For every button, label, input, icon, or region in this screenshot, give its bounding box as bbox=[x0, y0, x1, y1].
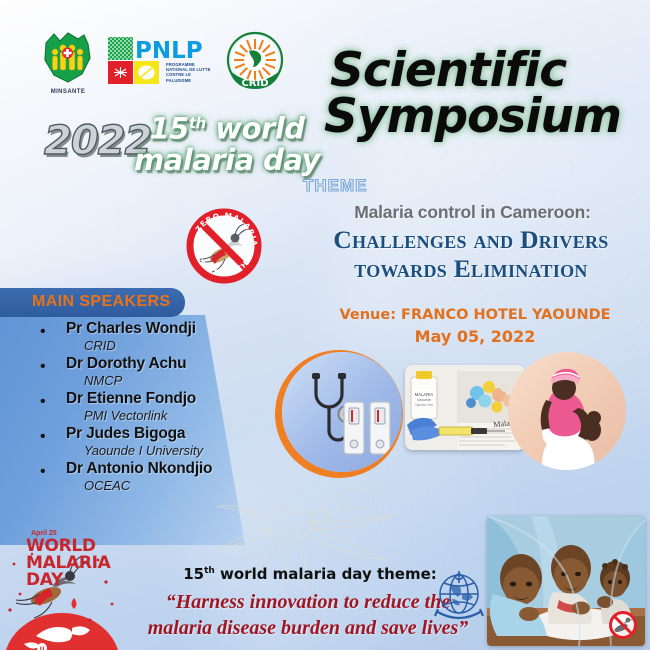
speaker-affiliation: CRID bbox=[84, 338, 252, 353]
bullet-icon: • bbox=[40, 393, 46, 411]
bullet-icon: • bbox=[40, 323, 46, 341]
emblem-line-3: DAY bbox=[26, 572, 112, 589]
theme-subject: Malaria control in Cameroon: bbox=[300, 202, 645, 223]
zero-malaria-badge-icon: ZERO MALARIA STARTS WITH ME bbox=[181, 203, 267, 289]
who-logo-icon bbox=[428, 565, 490, 627]
theme-headline-line1: Challenges and Drivers bbox=[333, 225, 608, 254]
wmd-world: world bbox=[206, 112, 305, 146]
svg-text:Injection 5ml: Injection 5ml bbox=[415, 403, 433, 407]
quote-line-1: “Harness innovation to reduce the bbox=[166, 591, 450, 613]
page-title: Scientific Symposium bbox=[330, 48, 630, 140]
svg-text:Vaccine: Vaccine bbox=[417, 397, 432, 402]
bottom-theme-ordinal: th bbox=[204, 566, 215, 576]
no-mosquito-icon bbox=[606, 608, 640, 642]
children-under-net-image bbox=[487, 516, 645, 646]
theme-label: THEME bbox=[303, 176, 368, 196]
speakers-header: MAIN SPEAKERS bbox=[0, 288, 185, 317]
world-malaria-day-emblem: U April 25 bbox=[2, 524, 122, 650]
wmd-line2: malaria day bbox=[134, 143, 320, 177]
speaker-name: Pr Charles Wondji bbox=[66, 320, 252, 338]
poster-canvas: MINSANTE P bbox=[0, 0, 650, 650]
minsante-caption: MINSANTE bbox=[38, 89, 98, 95]
theme-headline: Challenges and Drivers towards Eliminati… bbox=[292, 225, 650, 283]
bullet-icon: • bbox=[40, 358, 46, 376]
diagnostics-image bbox=[282, 352, 402, 472]
venue-block: Venue: FRANCO HOTEL YAOUNDE May 05, 2022 bbox=[300, 305, 650, 347]
malaria-vaccine-image: Malaria MALARIA Vaccine Injection 5ml bbox=[405, 365, 525, 450]
svg-text:U: U bbox=[40, 646, 45, 650]
speaker-name: Dr Dorothy Achu bbox=[66, 355, 252, 373]
speakers-header-label: MAIN SPEAKERS bbox=[32, 293, 171, 311]
list-item: • Dr Etienne Fondjo PMI Vectorlink bbox=[22, 390, 252, 423]
bullet-icon: • bbox=[40, 463, 46, 481]
speaker-name: Pr Judes Bigoga bbox=[66, 425, 252, 443]
speaker-affiliation: NMCP bbox=[84, 373, 252, 388]
pregnant-woman-image bbox=[508, 352, 626, 470]
bottom-theme-rest: world malaria day theme: bbox=[215, 565, 437, 583]
event-date: May 05, 2022 bbox=[300, 326, 650, 347]
emblem-title: WORLD MALARIA DAY bbox=[26, 538, 112, 589]
venue-line: Venue: FRANCO HOTEL YAOUNDE bbox=[300, 305, 650, 326]
list-item: • Dr Dorothy Achu NMCP bbox=[22, 355, 252, 388]
speaker-name: Dr Etienne Fondjo bbox=[66, 390, 252, 408]
theme-headline-line2: towards Elimination bbox=[354, 254, 587, 283]
svg-text:CRID: CRID bbox=[241, 78, 268, 89]
minsante-logo: MINSANTE bbox=[38, 30, 98, 94]
bottom-theme-number: 15 bbox=[183, 565, 204, 583]
list-item: • Pr Charles Wondji CRID bbox=[22, 320, 252, 353]
speaker-affiliation: PMI Vectorlink bbox=[84, 408, 252, 423]
bullet-icon: • bbox=[40, 428, 46, 446]
quote-line-2: malaria disease burden and save lives” bbox=[148, 617, 469, 639]
pnlp-subtitle: PROGRAMME NATIONAL DE LUTTE CONTRE LE PA… bbox=[166, 62, 214, 83]
logo-row: MINSANTE P bbox=[38, 30, 288, 96]
title-line-2: Symposium bbox=[324, 94, 630, 140]
wmd-number: 15 bbox=[149, 112, 188, 146]
pnlp-logo: PNLP PROGRAMME NATIONAL DE LUTTE CONTRE … bbox=[108, 36, 213, 86]
crid-logo: CRID bbox=[223, 30, 287, 94]
list-item: • Pr Judes Bigoga Yaounde I University bbox=[22, 425, 252, 458]
wmd-ordinal: th bbox=[189, 114, 206, 132]
world-malaria-day-title: 15th world malaria day bbox=[132, 108, 322, 176]
svg-text:PNLP: PNLP bbox=[135, 38, 203, 64]
